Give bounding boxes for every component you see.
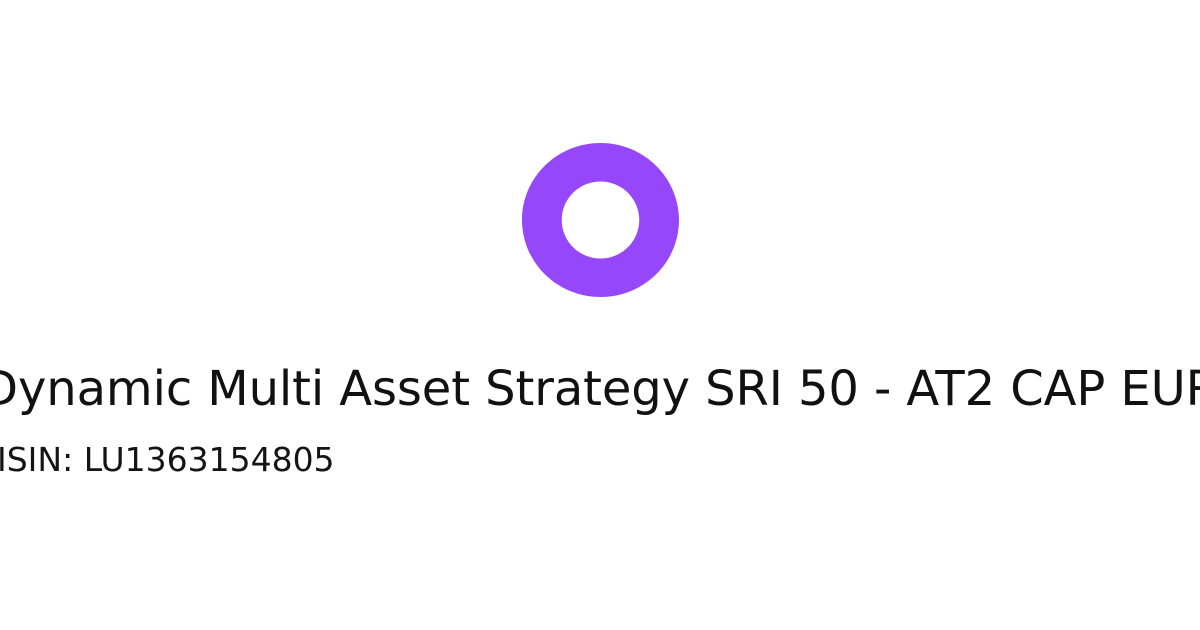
page-title: Dynamic Multi Asset Strategy SRI 50 - AT… (0, 364, 1200, 416)
fund-title-row: Dynamic Multi Asset Strategy SRI 50 - AT… (0, 355, 1200, 425)
purple-ring-icon (522, 143, 679, 297)
isin-label: ISIN: LU1363154805 (0, 442, 335, 478)
open-graph-card: Dynamic Multi Asset Strategy SRI 50 - AT… (0, 0, 1200, 630)
fund-isin-row: ISIN: LU1363154805 (0, 437, 1200, 483)
brand-logo-container (0, 143, 1200, 297)
